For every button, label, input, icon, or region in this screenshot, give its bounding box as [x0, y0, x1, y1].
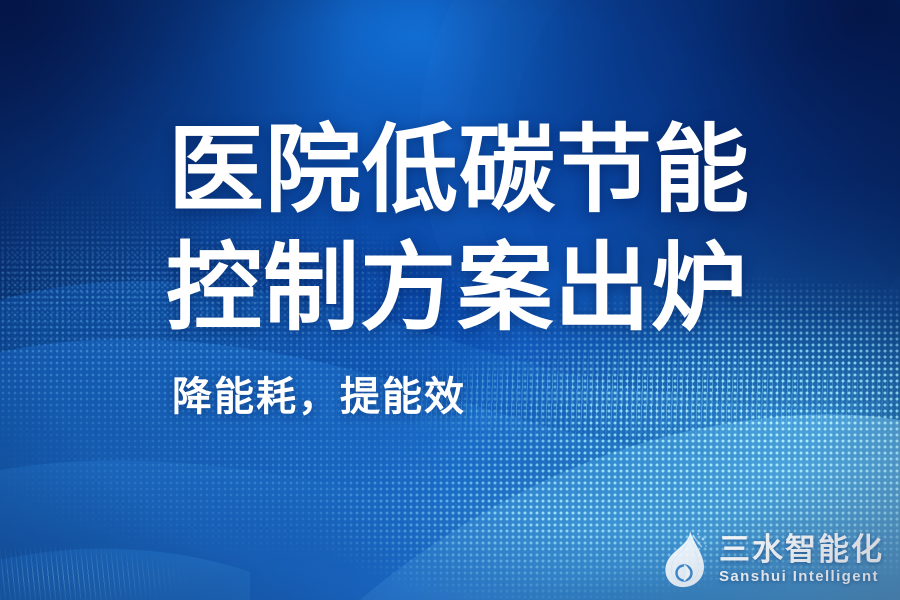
- brand-name-cn: 三水智能化: [719, 533, 884, 567]
- headline-block: 医院低碳节能 控制方案出炉: [168, 112, 788, 348]
- brand-name-en: Sanshui Intelligent: [719, 567, 879, 586]
- poster-canvas: 医院低碳节能 控制方案出炉 降能耗，提能效 三水智能化 Sanshui Inte…: [0, 0, 900, 600]
- brand-text-block: 三水智能化 Sanshui Intelligent: [719, 533, 884, 586]
- headline-line-1: 医院低碳节能: [168, 112, 788, 230]
- water-drop-leaf-logo-icon: [660, 530, 710, 588]
- headline-line-2: 控制方案出炉: [166, 230, 788, 348]
- subheadline: 降能耗，提能效: [172, 370, 466, 424]
- brand-watermark: 三水智能化 Sanshui Intelligent: [660, 530, 884, 588]
